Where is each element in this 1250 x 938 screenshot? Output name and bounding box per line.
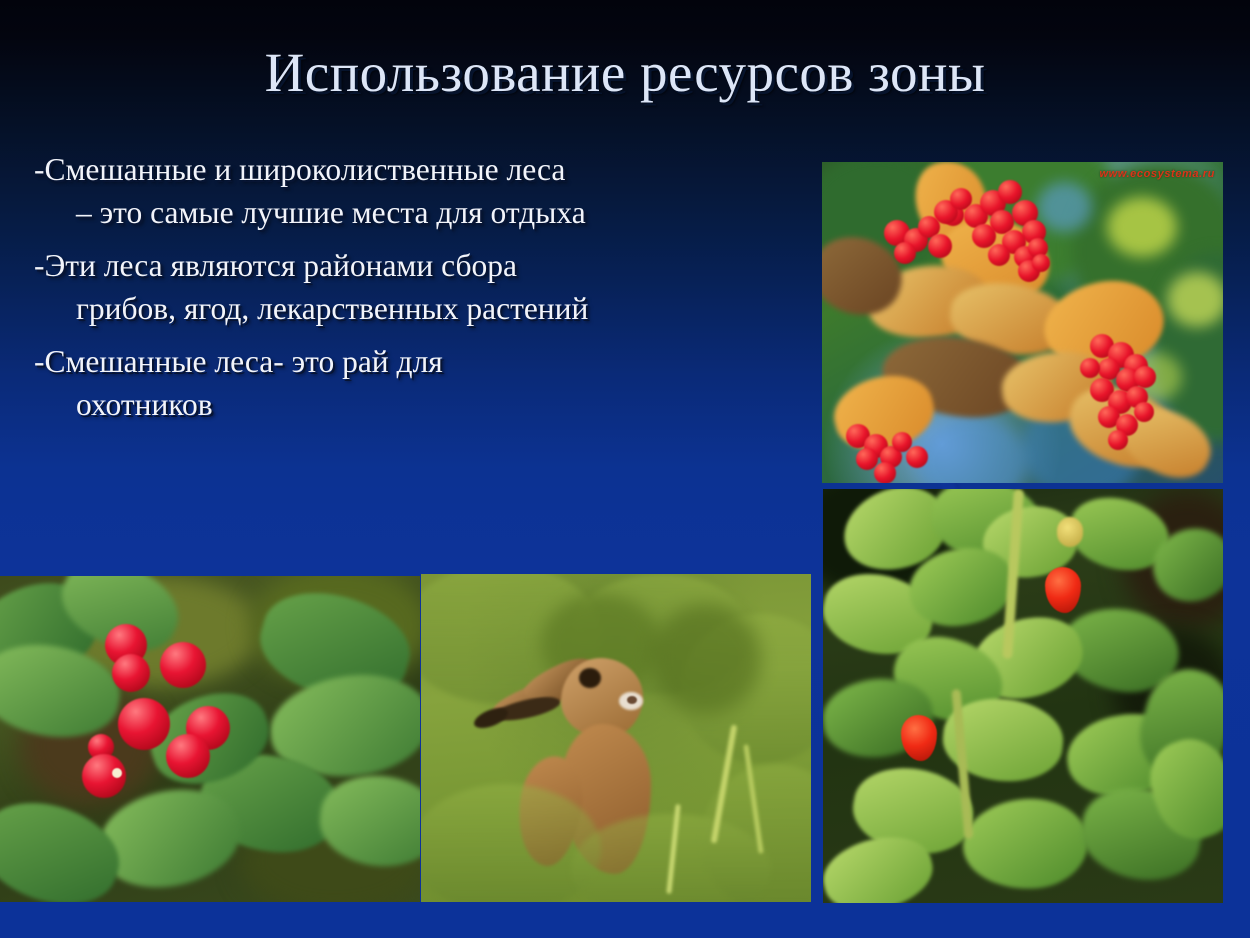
berries-artwork: [0, 576, 420, 902]
image-watermark: www.ecosystema.ru: [1099, 168, 1215, 180]
bullet-line-2: грибов, ягод, лекарственных растений: [34, 287, 799, 330]
bullet-item: -Смешанные и широколиственные леса – это…: [34, 148, 799, 235]
bullet-line-1: -Смешанные леса- это рай для: [34, 344, 443, 379]
bullet-line-2: – это самые лучшие места для отдыха: [34, 191, 799, 234]
bullet-line-2: охотников: [34, 383, 799, 426]
slide-body-text: -Смешанные и широколиственные леса – это…: [34, 148, 799, 436]
image-viburnum-branch: www.ecosystema.ru: [822, 162, 1223, 483]
bullet-item: -Смешанные леса- это рай для охотников: [34, 340, 799, 427]
viburnum-artwork: [822, 162, 1223, 483]
image-stone-bramble-berries: [0, 576, 420, 902]
strawberry-artwork: [823, 489, 1223, 903]
presentation-slide: Использование ресурсов зоны -Смешанные и…: [0, 0, 1250, 938]
image-wild-strawberry: [823, 489, 1223, 903]
hare-artwork: [421, 574, 811, 902]
image-hare-in-grass: [421, 574, 811, 902]
bullet-line-1: -Смешанные и широколиственные леса: [34, 152, 565, 187]
bullet-item: -Эти леса являются районами сбора грибов…: [34, 244, 799, 331]
bullet-line-1: -Эти леса являются районами сбора: [34, 248, 517, 283]
slide-title: Использование ресурсов зоны: [60, 44, 1190, 102]
